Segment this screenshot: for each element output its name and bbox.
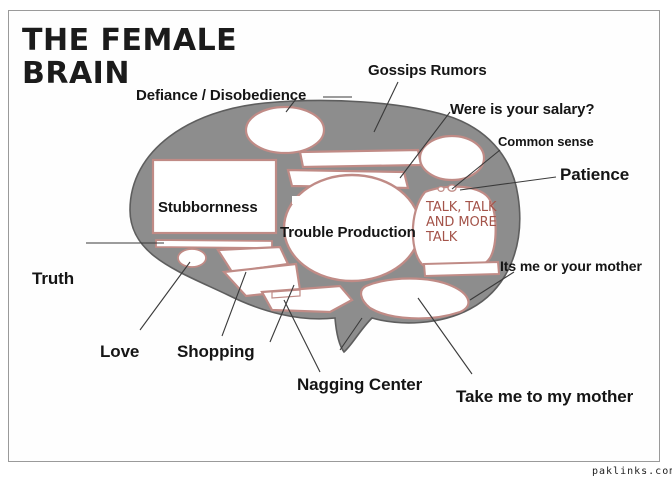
chamber-patience [448,185,456,191]
label-talk-talk-and-more-talk: TALK, TALK AND MORE TALK [426,200,497,245]
label-its-me-or-your-mother: Its me or your mother [500,259,642,274]
label-defiance-disobedience: Defiance / Disobedience [136,88,306,104]
label-where-is-your-salary: Were is your salary? [450,102,594,118]
chamber-truth [178,249,206,267]
label-take-me-to-my-mother: Take me to my mother [456,388,633,406]
label-patience: Patience [560,166,629,184]
chamber-gossips [300,150,421,167]
chamber-stubbornness [153,160,276,233]
chamber-truth-band [156,240,272,248]
chamber-nagging-center [262,286,352,312]
channel-b [272,290,300,298]
label-shopping: Shopping [177,343,255,361]
female-brain-diagram: THE FEMALE BRAIN Defiance / Disobedience… [0,0,672,486]
label-truth: Truth [32,270,74,288]
label-love: Love [100,343,139,361]
label-gossips-rumors: Gossips Rumors [368,63,487,79]
label-trouble-production: Trouble Production [280,225,416,241]
watermark: paklinks.com [592,466,672,477]
channel-a [292,196,300,204]
label-stubbornness: Stubbornness [158,200,258,216]
label-nagging-center: Nagging Center [297,376,422,394]
chamber-its-me [424,262,499,276]
chamber-defiance [246,107,324,153]
chamber-common-sense [438,187,444,192]
label-common-sense: Common sense [498,135,594,149]
page-title: THE FEMALE BRAIN [22,24,237,90]
leader-love [140,262,190,330]
chamber-salary [420,136,484,180]
